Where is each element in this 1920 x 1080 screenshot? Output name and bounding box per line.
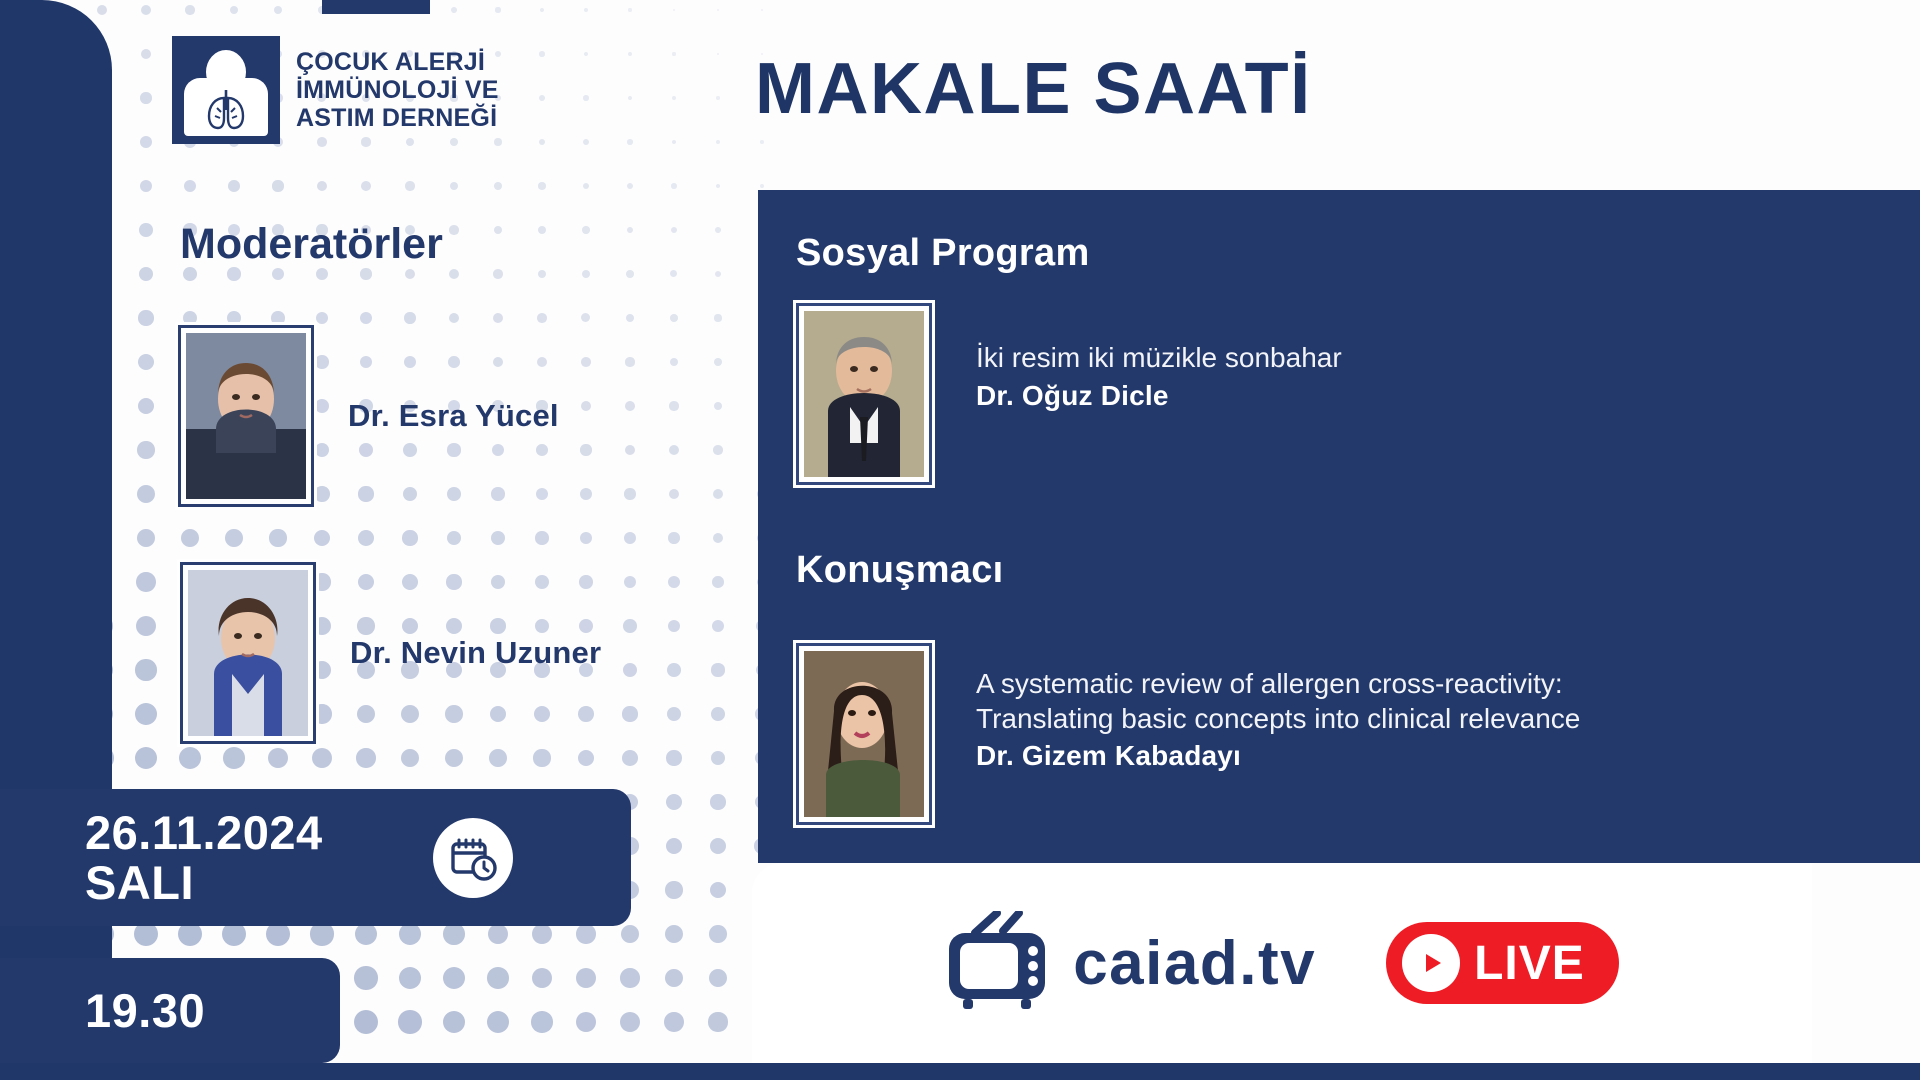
moderator-name: Dr. Esra Yücel — [348, 398, 559, 434]
bottom-navy-strip — [0, 1063, 1920, 1080]
association-name: ÇOCUK ALERJİ İMMÜNOLOJİ VE ASTIM DERNEĞİ — [296, 48, 499, 132]
avatar — [180, 562, 316, 744]
logo-lungs-shape — [203, 88, 249, 130]
program-entry: A systematic review of allergen cross-re… — [796, 643, 1580, 825]
time-badge: 19.30 — [0, 958, 340, 1063]
section-heading-social: Sosyal Program — [796, 232, 1090, 275]
entry-person: Dr. Oğuz Dicle — [976, 380, 1342, 412]
live-label: LIVE — [1474, 936, 1585, 991]
program-panel: Sosyal Program — [758, 190, 1920, 863]
program-entry: İki resim iki müzikle sonbahar Dr. Oğuz … — [796, 303, 1342, 485]
child-lungs-icon — [172, 36, 280, 144]
brand-name: caiad.tv — [1073, 928, 1316, 999]
play-icon — [1402, 934, 1460, 992]
entry-person: Dr. Gizem Kabadayı — [976, 740, 1580, 772]
moderator-row: Dr. Esra Yücel — [178, 325, 559, 507]
entry-title: A systematic review of allergen cross-re… — [976, 667, 1580, 736]
moderators-heading: Moderatörler — [180, 220, 443, 269]
top-navy-tab — [322, 0, 430, 14]
retro-tv-icon — [945, 911, 1063, 1015]
calendar-clock-icon — [433, 818, 513, 898]
event-date: 26.11.2024 SALI — [85, 808, 323, 908]
moderator-name: Dr. Nevin Uzuner — [350, 635, 601, 671]
section-heading-speaker: Konuşmacı — [796, 549, 1004, 592]
date-badge: 26.11.2024 SALI — [0, 789, 631, 926]
association-logo: ÇOCUK ALERJİ İMMÜNOLOJİ VE ASTIM DERNEĞİ — [172, 36, 499, 144]
poster-root: ÇOCUK ALERJİ İMMÜNOLOJİ VE ASTIM DERNEĞİ… — [0, 0, 1920, 1080]
avatar — [796, 303, 932, 485]
brand-logo[interactable]: caiad.tv — [945, 911, 1316, 1015]
avatar — [796, 643, 932, 825]
moderator-row: Dr. Nevin Uzuner — [180, 562, 601, 744]
entry-title: İki resim iki müzikle sonbahar — [976, 341, 1342, 376]
event-time: 19.30 — [85, 983, 205, 1038]
live-badge[interactable]: LIVE — [1386, 922, 1619, 1004]
avatar — [178, 325, 314, 507]
footer-card: caiad.tv LIVE — [752, 863, 1812, 1063]
page-title: MAKALE SAATİ — [755, 48, 1312, 130]
